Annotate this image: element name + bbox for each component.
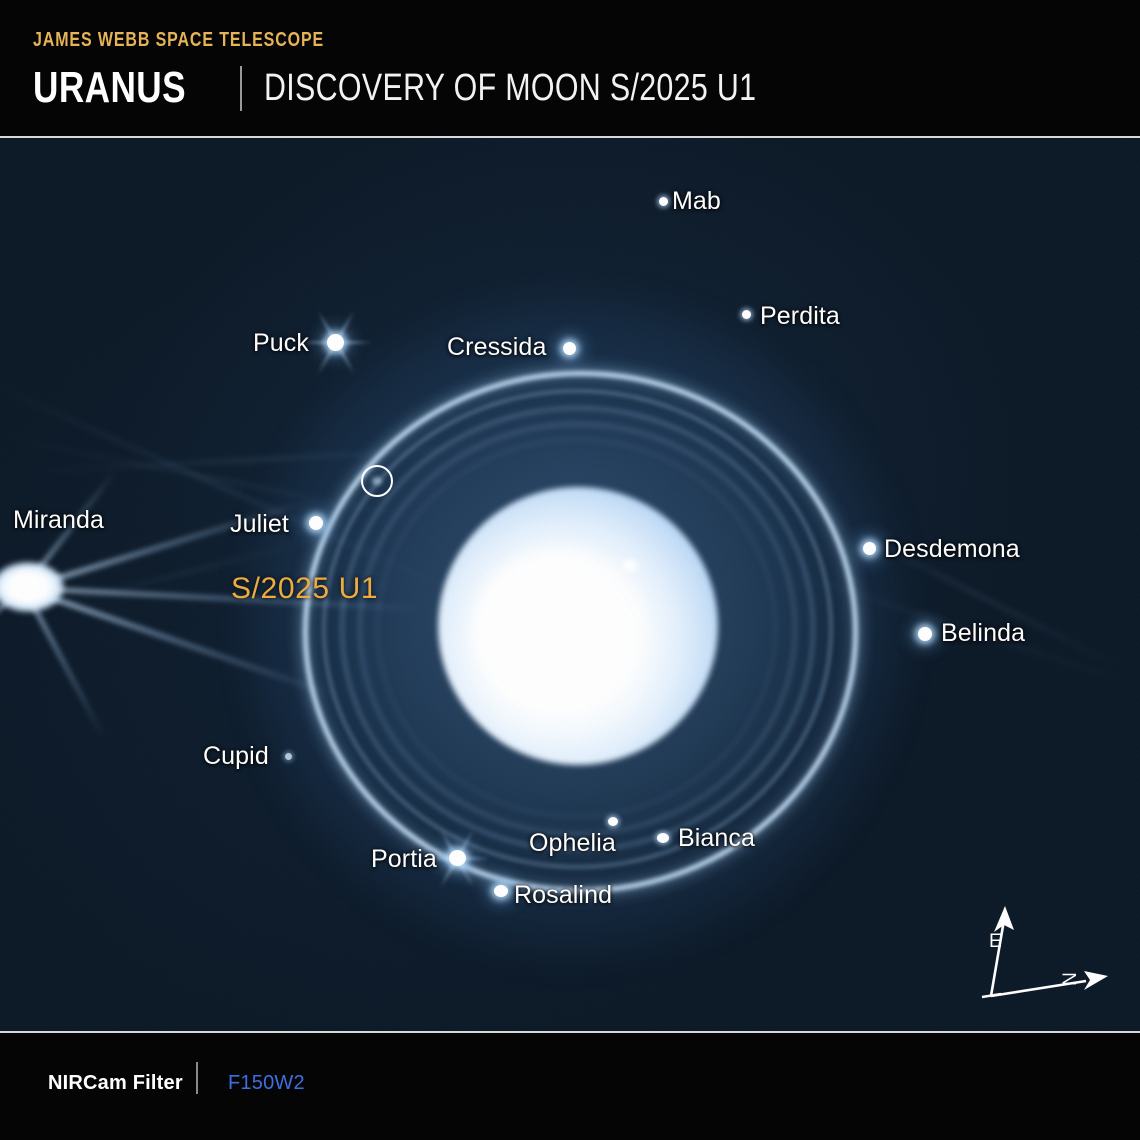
label-ophelia: Ophelia bbox=[529, 831, 616, 856]
jwst-uranus-poster: JAMES WEBB SPACE TELESCOPE URANUS DISCOV… bbox=[0, 0, 1140, 1140]
label-belinda: Belinda bbox=[941, 621, 1025, 646]
filter-value: F150W2 bbox=[228, 1072, 305, 1095]
new-moon-dot bbox=[372, 477, 382, 485]
label-puck: Puck bbox=[253, 331, 309, 356]
compass-svg bbox=[958, 898, 1118, 1008]
compass-rose: E N bbox=[958, 898, 1118, 1008]
moon-dot-belinda bbox=[918, 627, 932, 641]
label-cressida: Cressida bbox=[447, 335, 546, 360]
label-portia: Portia bbox=[371, 847, 437, 872]
new-moon-marker-circle bbox=[361, 465, 393, 497]
title-row: URANUS DISCOVERY OF MOON S/2025 U1 bbox=[33, 60, 880, 116]
label-new-moon: S/2025 U1 bbox=[231, 574, 378, 604]
label-mab: Mab bbox=[672, 189, 721, 214]
page-title: URANUS bbox=[33, 66, 186, 110]
page-subtitle: DISCOVERY OF MOON S/2025 U1 bbox=[264, 69, 756, 107]
moon-dot-puck bbox=[327, 334, 344, 351]
label-juliet: Juliet bbox=[230, 512, 289, 537]
label-bianca: Bianca bbox=[678, 826, 755, 851]
label-rosalind: Rosalind bbox=[514, 883, 612, 908]
poster-header: JAMES WEBB SPACE TELESCOPE URANUS DISCOV… bbox=[0, 0, 1140, 137]
observatory-name: JAMES WEBB SPACE TELESCOPE bbox=[33, 29, 324, 52]
planet-bright-core bbox=[473, 545, 648, 715]
label-perdita: Perdita bbox=[760, 304, 840, 329]
title-divider bbox=[240, 66, 242, 111]
diffraction-spike bbox=[300, 341, 372, 344]
compass-arrow-north bbox=[1084, 971, 1108, 990]
telescope-image: S/2025 U1 Mab Perdita Puck Cressida Mira… bbox=[0, 138, 1140, 1032]
instrument-label: NIRCam Filter bbox=[48, 1072, 183, 1095]
moon-dot-mab bbox=[659, 197, 668, 206]
compass-arrow-east bbox=[994, 906, 1014, 932]
label-cupid: Cupid bbox=[203, 744, 269, 769]
footer-divider bbox=[196, 1062, 198, 1094]
label-desdemona: Desdemona bbox=[884, 537, 1020, 562]
uranus-planet bbox=[303, 355, 848, 900]
polar-storm-spot bbox=[622, 559, 638, 572]
moon-dot-perdita bbox=[742, 310, 751, 319]
label-miranda: Miranda bbox=[13, 508, 104, 533]
compass-label-east: E bbox=[989, 931, 1002, 953]
moon-dot-miranda bbox=[0, 562, 64, 612]
compass-label-north: N bbox=[1060, 972, 1082, 986]
